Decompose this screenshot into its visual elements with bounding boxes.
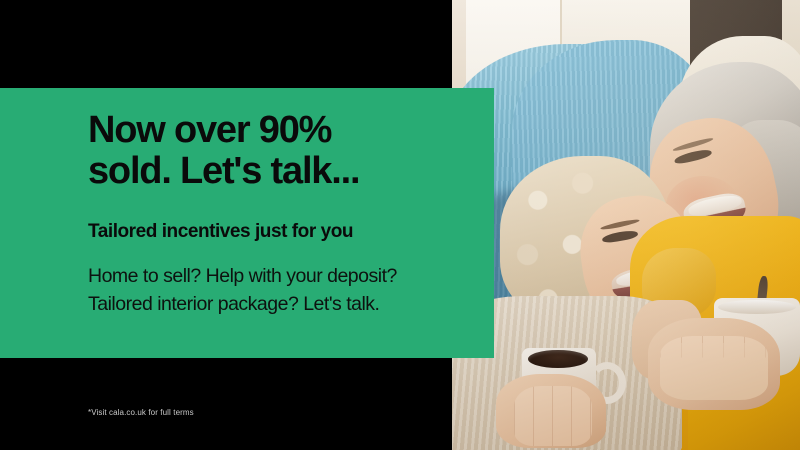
- body-copy: Home to sell? Help with your deposit? Ta…: [88, 263, 397, 318]
- terms-footnote: *Visit cala.co.uk for full terms: [88, 408, 194, 417]
- photo-mug-right-rim: [718, 300, 796, 314]
- photo-fingers-right: [660, 336, 768, 400]
- body-line-1: Home to sell? Help with your deposit?: [88, 263, 397, 291]
- body-line-2: Tailored interior package? Let's talk.: [88, 291, 397, 319]
- photo-fingers-left: [514, 386, 592, 446]
- green-message-panel: Now over 90% sold. Let's talk... Tailore…: [0, 88, 494, 358]
- photo-coffee-surface: [528, 350, 588, 368]
- headline-line-1: Now over 90%: [88, 110, 468, 151]
- headline-line-2: sold. Let's talk...: [88, 151, 468, 192]
- subheading: Tailored incentives just for you: [88, 221, 353, 243]
- page-title: Now over 90% sold. Let's talk...: [88, 110, 468, 192]
- lifestyle-photo: [452, 0, 800, 450]
- promotional-banner: Now over 90% sold. Let's talk... Tailore…: [0, 0, 800, 450]
